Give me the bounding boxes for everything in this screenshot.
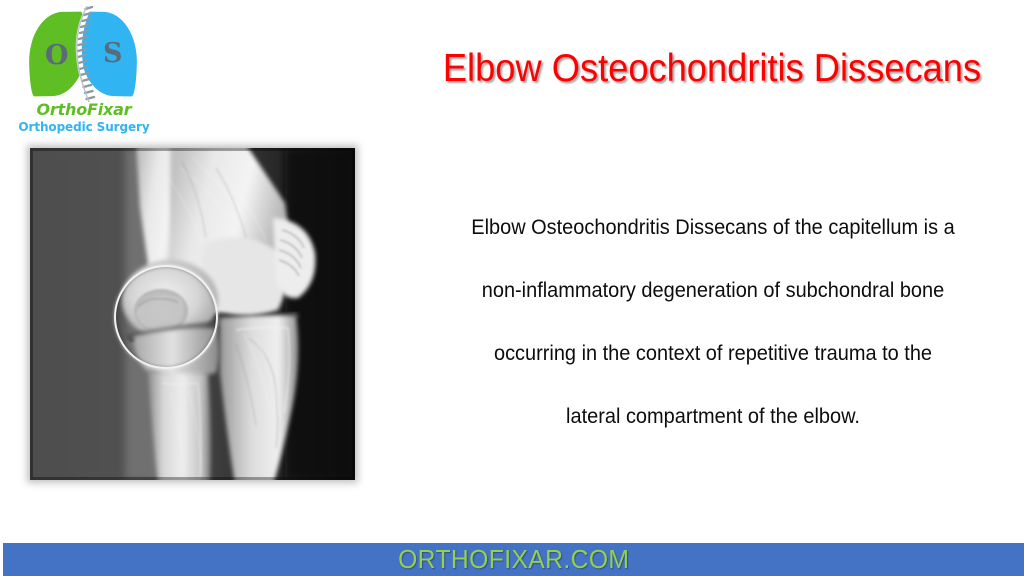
body-line-2: non-inflammatory degeneration of subchon… xyxy=(423,259,1003,322)
footer-website-label: ORTHOFIXAR.COM xyxy=(398,544,629,575)
logo-letter-s: S xyxy=(103,38,122,69)
footer-banner: ORTHOFIXAR.COM xyxy=(3,543,1024,576)
body-line-4: lateral compartment of the elbow. xyxy=(423,385,1003,448)
logo-letter-o: O xyxy=(45,40,68,71)
logo-wordmark: OrthoFixar xyxy=(14,100,154,119)
body-line-1: Elbow Osteochondritis Dissecans of the c… xyxy=(423,196,1003,259)
body-line-3: occurring in the context of repetitive t… xyxy=(423,322,1003,385)
logo-mark: O S xyxy=(27,8,139,100)
body-text: Elbow Osteochondritis Dissecans of the c… xyxy=(408,196,1018,448)
orthofixar-logo: O S OrthoFixar Orthopedic Surgery xyxy=(14,6,154,138)
spine-icon xyxy=(71,6,97,102)
page-title: Elbow Osteochondritis Dissecans xyxy=(426,46,999,92)
elbow-radiograph-figure xyxy=(30,148,355,480)
logo-subwordmark: Orthopedic Surgery xyxy=(14,120,154,134)
lesion-highlight-circle xyxy=(114,265,218,369)
